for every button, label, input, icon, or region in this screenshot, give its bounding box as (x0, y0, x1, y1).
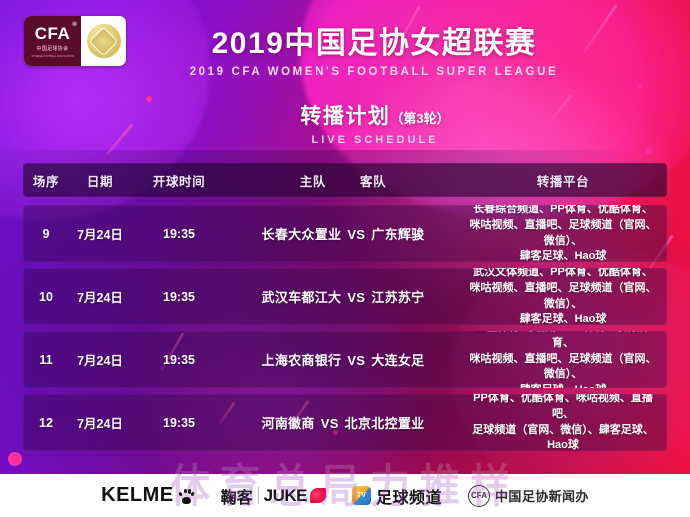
sponsor-football-channel: TV 足球频道 (352, 484, 442, 508)
table-row: 10 7月24日 19:35 武汉车都江大VS江苏苏宁 武汉文体频道、PP体育、… (23, 268, 667, 325)
football-channel-label: 足球频道 (376, 484, 442, 508)
cell-match-date: 7月24日 (69, 224, 131, 243)
away-team: 大连女足 (371, 353, 424, 368)
divider (258, 487, 259, 504)
cell-teams: 武汉车都江大VS江苏苏宁 (227, 287, 459, 306)
schedule-table: 场序 日期 开球时间 主队 客队 转播平台 9 7月24日 19:35 长春大众… (23, 163, 667, 457)
cfa-news-icon: CFA (468, 485, 490, 507)
column-header-teams: 主队 客队 (227, 171, 459, 190)
cell-broadcast-platforms: 五星体育（延播）、PP体育、优酷体育、 咪咕视频、直播吧、足球频道（官网、微信）… (459, 331, 667, 388)
cell-match-date: 7月24日 (69, 350, 131, 369)
juke-label-cn: 鞠客 (221, 484, 253, 508)
sponsor-kelme: KELME (101, 484, 195, 507)
vs-label: VS (347, 227, 365, 242)
column-header-time: 开球时间 (131, 171, 227, 190)
vs-label: VS (347, 290, 365, 305)
kelme-label: KELME (101, 484, 174, 507)
cell-teams: 河南徽商VS北京北控置业 (227, 413, 459, 432)
table-row: 9 7月24日 19:35 长春大众置业VS广东辉骏 长春综合频道、PP体育、优… (23, 205, 667, 262)
cell-match-no: 11 (23, 353, 69, 367)
away-team: 广东辉骏 (371, 227, 424, 242)
sponsor-cfa-news: CFA 中国足协新闻办 (468, 485, 589, 507)
subtitle-block: 转播计划（第3轮） LIVE SCHEDULE (0, 100, 690, 146)
ftv-badge-icon: TV (352, 486, 371, 505)
vs-label: VS (321, 416, 339, 431)
column-header-home: 主队 (300, 171, 326, 190)
cfa-news-label: 中国足协新闻办 (495, 486, 589, 505)
cell-match-no: 10 (23, 290, 69, 304)
column-header-platform: 转播平台 (459, 171, 667, 190)
sponsor-bar: 体育总局力推样 KELME 鞠客 JUKE TV 足球频道 CFA 中国足协新闻… (0, 474, 690, 517)
cell-broadcast-platforms: 武汉文体频道、PP体育、优酷体育、 咪咕视频、直播吧、足球频道（官网、微信）、 … (459, 268, 667, 325)
table-row: 11 7月24日 19:35 上海农商银行VS大连女足 五星体育（延播）、PP体… (23, 331, 667, 388)
table-header-row: 场序 日期 开球时间 主队 客队 转播平台 (23, 163, 667, 197)
subtitle-english: LIVE SCHEDULE (60, 134, 690, 146)
broadcast-schedule-poster: CFA® 中国足球协会 CHINESE FOOTBALL ASSOCIATION… (0, 0, 690, 517)
home-team: 长春大众置业 (262, 227, 342, 242)
cell-teams: 长春大众置业VS广东辉骏 (227, 224, 459, 243)
subtitle-round: （第3轮） (390, 111, 449, 126)
subtitle-main: 转播计划 (300, 105, 390, 128)
kelme-wordmark: KELME (101, 484, 195, 507)
home-team: 河南徽商 (262, 416, 315, 431)
column-header-date: 日期 (69, 171, 131, 190)
away-team: 江苏苏宁 (371, 290, 424, 305)
column-header-away: 客队 (360, 171, 386, 190)
cell-match-no: 12 (23, 416, 69, 430)
poster-header: CFA® 中国足球协会 CHINESE FOOTBALL ASSOCIATION… (0, 0, 690, 155)
cell-teams: 上海农商银行VS大连女足 (227, 350, 459, 369)
cell-broadcast-platforms: PP体育、优酷体育、咪咕视频、直播吧、 足球频道（官网、微信）、肆客足球、Hao… (459, 394, 667, 451)
column-header-no: 场序 (23, 171, 69, 190)
page-title: 2019中国足协女超联赛 (58, 28, 690, 60)
cell-kickoff-time: 19:35 (131, 227, 227, 241)
paw-icon (179, 488, 195, 504)
juke-label-en: JUKE (264, 486, 307, 506)
registered-icon: ® (72, 22, 77, 28)
cell-broadcast-platforms: 长春综合频道、PP体育、优酷体育、 咪咕视频、直播吧、足球频道（官网、微信）、 … (459, 205, 667, 262)
home-team: 上海农商银行 (262, 353, 342, 368)
sponsor-juke: 鞠客 JUKE (221, 484, 326, 508)
page-title-english: 2019 CFA WOMEN'S FOOTBALL SUPER LEAGUE (58, 66, 690, 78)
table-row: 12 7月24日 19:35 河南徽商VS北京北控置业 PP体育、优酷体育、咪咕… (23, 394, 667, 451)
cell-match-date: 7月24日 (69, 287, 131, 306)
home-team: 武汉车都江大 (262, 290, 342, 305)
juke-mark-icon (310, 488, 326, 503)
away-team: 北京北控置业 (345, 416, 425, 431)
cell-kickoff-time: 19:35 (131, 290, 227, 304)
cell-match-no: 9 (23, 227, 69, 241)
vs-label: VS (347, 353, 365, 368)
cell-match-date: 7月24日 (69, 413, 131, 432)
cell-kickoff-time: 19:35 (131, 353, 227, 367)
cell-kickoff-time: 19:35 (131, 416, 227, 430)
subtitle: 转播计划（第3轮） (60, 100, 690, 130)
decor-dot-4 (8, 452, 22, 466)
title-block: 2019中国足协女超联赛 2019 CFA WOMEN'S FOOTBALL S… (0, 28, 690, 78)
